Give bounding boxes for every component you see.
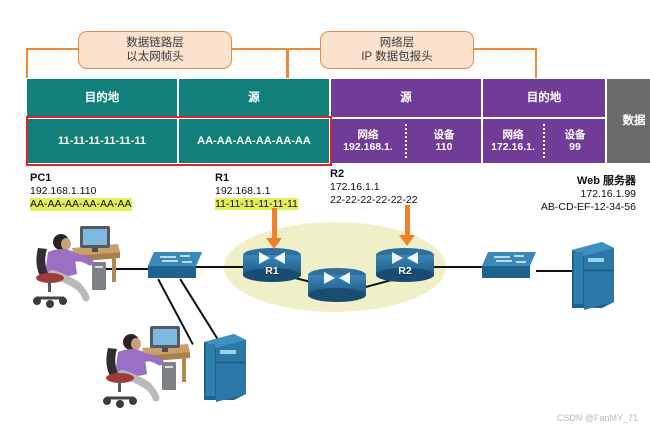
arrow-pointing-to-r2 xyxy=(399,205,415,246)
watermark: CSDN @FanMY_71 xyxy=(557,413,638,423)
value-destination-mac: 11-11-11-11-11-11 xyxy=(26,118,178,164)
value-source-mac: AA-AA-AA-AA-AA-AA xyxy=(178,118,330,164)
source-ip-device: 设备 110 xyxy=(407,119,481,163)
switch-server-side xyxy=(476,246,542,280)
switch-icon xyxy=(142,246,208,280)
router-r1: R1 xyxy=(243,248,301,282)
router-r2-label: R2 xyxy=(376,265,434,277)
label-web-server-mac: AB-CD-EF-12-34-56 xyxy=(486,201,636,214)
callout-net-line2: IP 数据包报头 xyxy=(361,50,432,64)
workstation-icon xyxy=(98,318,202,410)
cell-payload-data: 数据 xyxy=(606,78,650,164)
switch-icon xyxy=(476,246,542,280)
label-web-server-ip: 172.16.1.99 xyxy=(486,188,636,201)
label-r1: R1 192.168.1.1 11-11-11-11-11-11 xyxy=(215,172,298,211)
router-r2: R2 xyxy=(376,248,434,282)
label-r1-ip: 192.168.1.1 xyxy=(215,185,298,198)
label-pc1-name: PC1 xyxy=(30,172,133,185)
switch-lan xyxy=(142,246,208,280)
pdu-table: 目的地 源 源 目的地 11-11-11-11-11-11 AA-AA-AA-A… xyxy=(26,78,634,164)
destination-ip-device-label: 设备 xyxy=(565,129,586,142)
router-core-bottom xyxy=(308,288,366,302)
workstation-icon xyxy=(28,218,132,310)
router-r1-label: R1 xyxy=(243,265,301,277)
router-arrows-icon xyxy=(390,250,420,266)
label-r2-name: R2 xyxy=(330,168,418,181)
arrow-r1-head xyxy=(266,238,282,249)
label-pc1: PC1 192.168.1.110 AA-AA-AA-AA-AA-AA xyxy=(30,172,133,211)
source-ip-device-value: 110 xyxy=(436,141,453,154)
header-source-ip: 源 xyxy=(330,78,482,118)
label-r1-mac: 11-11-11-11-11-11 xyxy=(215,198,298,210)
destination-ip-device-value: 99 xyxy=(569,141,581,154)
value-destination-ip: 网络 172.16.1. 设备 99 xyxy=(482,118,606,164)
label-r2-ip: 172.16.1.1 xyxy=(330,181,418,194)
arrow-r2-shaft xyxy=(405,205,410,235)
callout-net-line1: 网络层 xyxy=(380,36,415,50)
workstation-pc2 xyxy=(98,318,196,404)
arrow-r1-shaft xyxy=(272,208,277,238)
router-core xyxy=(308,268,366,302)
web-server-tower xyxy=(568,240,614,306)
server-icon xyxy=(568,240,618,312)
router-arrows-icon xyxy=(257,250,287,266)
callout-dll-line2: 以太网帧头 xyxy=(126,50,184,64)
workstation-pc1 xyxy=(28,218,126,304)
source-ip-network-label: 网络 xyxy=(358,129,379,142)
router-arrows-icon xyxy=(322,270,352,286)
callout-data-link-layer: 数据链路层 以太网帧头 xyxy=(78,31,232,69)
destination-ip-network-value: 172.16.1. xyxy=(491,141,535,154)
header-destination-ip: 目的地 xyxy=(482,78,606,118)
arrow-pointing-to-r1 xyxy=(266,208,282,249)
diagram-canvas: 数据链路层 以太网帧头 网络层 IP 数据包报头 目的地 源 源 目的地 11-… xyxy=(0,0,650,433)
destination-ip-device: 设备 99 xyxy=(545,119,605,163)
label-web-server-name: Web 服务器 xyxy=(486,175,636,188)
value-source-ip: 网络 192.168.1. 设备 110 xyxy=(330,118,482,164)
source-ip-network: 网络 192.168.1. xyxy=(331,119,405,163)
label-r1-name: R1 xyxy=(215,172,298,185)
header-source-mac: 源 xyxy=(178,78,330,118)
callout-dll-line1: 数据链路层 xyxy=(126,36,184,50)
local-server-tower xyxy=(200,332,246,398)
label-web-server: Web 服务器 172.16.1.99 AB-CD-EF-12-34-56 xyxy=(486,175,636,214)
callout-network-layer: 网络层 IP 数据包报头 xyxy=(320,31,474,69)
arrow-r2-head xyxy=(399,235,415,246)
destination-ip-network-label: 网络 xyxy=(503,129,524,142)
label-r2: R2 172.16.1.1 22-22-22-22-22-22 xyxy=(330,168,418,207)
header-destination-mac: 目的地 xyxy=(26,78,178,118)
source-ip-network-value: 192.168.1. xyxy=(343,141,393,154)
server-icon xyxy=(200,332,250,404)
destination-ip-network: 网络 172.16.1. xyxy=(483,119,543,163)
label-pc1-mac: AA-AA-AA-AA-AA-AA xyxy=(30,198,132,211)
label-pc1-ip: 192.168.1.110 xyxy=(30,185,133,198)
source-ip-device-label: 设备 xyxy=(434,129,455,142)
